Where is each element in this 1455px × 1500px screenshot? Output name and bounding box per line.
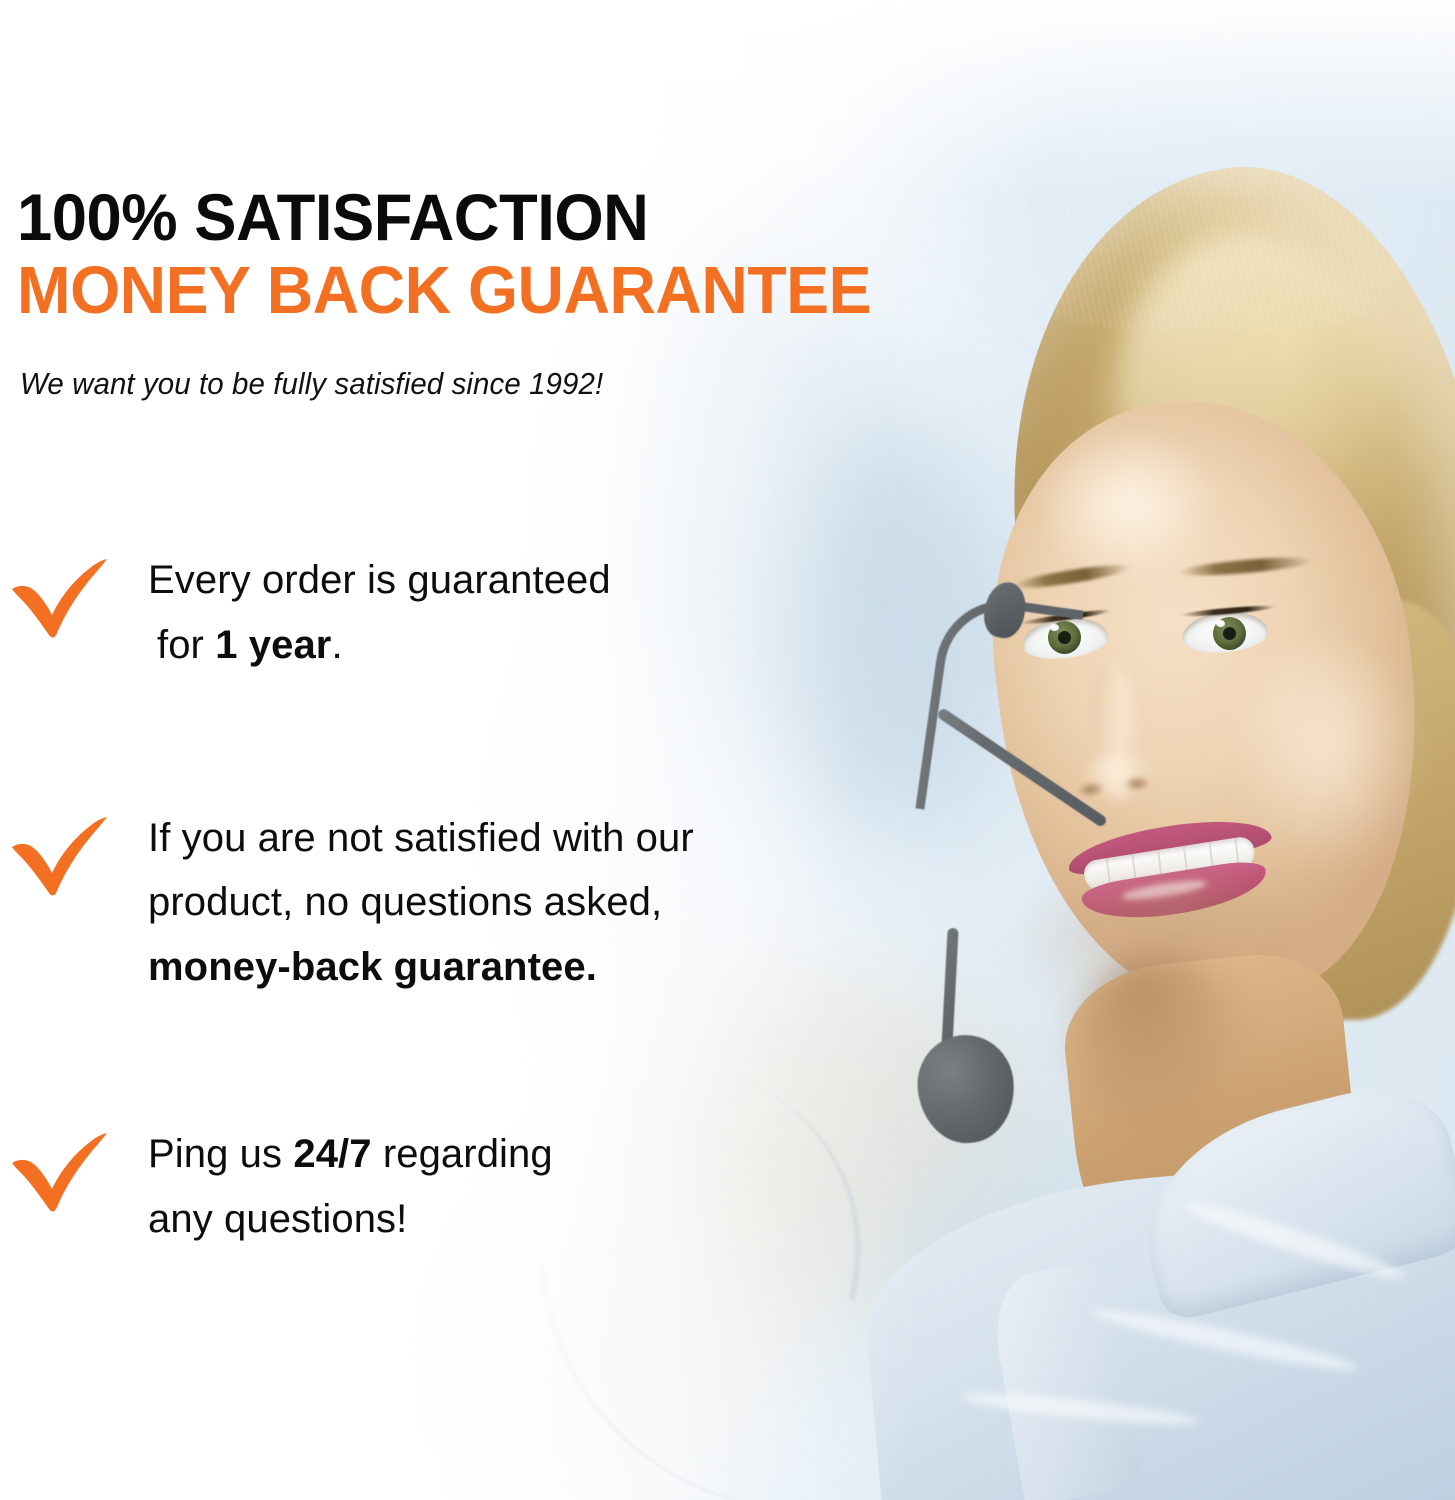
line-emphasis: money-back guarantee. [148,945,597,989]
list-item-line: Ping us 24/7 regarding [148,1122,900,1187]
list-item-text: Every order is guaranteed for 1 year. [0,548,900,678]
line-emphasis: 1 year [215,623,331,667]
list-item: Ping us 24/7 regarding any questions! [0,1122,900,1252]
line-suffix: regarding [372,1132,553,1176]
check-icon [10,556,110,640]
list-item-line: If you are not satisfied with our [148,806,900,871]
list-item-line: Every order is guaranteed [148,548,900,613]
list-item-line: money-back guarantee. [148,935,900,1000]
line-emphasis: 24/7 [293,1132,371,1176]
headline-money-back-guarantee: MONEY BACK GUARANTEE [17,260,987,323]
list-item-line: product, no questions asked, [148,870,900,935]
check-icon [10,814,110,898]
headline-satisfaction: 100% SATISFACTION [17,186,987,248]
promo-banner: 100% SATISFACTION MONEY BACK GUARANTEE W… [0,0,1455,1500]
list-item-line: for 1 year. [148,613,900,678]
line-prefix: Ping us [148,1132,293,1176]
headline-block: 100% SATISFACTION MONEY BACK GUARANTEE [17,186,1027,323]
list-item: Every order is guaranteed for 1 year. [0,548,900,678]
list-item-text: If you are not satisfied with our produc… [0,806,900,1000]
list-item-text: Ping us 24/7 regarding any questions! [0,1122,900,1252]
line-prefix: for [157,623,215,667]
line-suffix: . [331,623,342,667]
list-item-line: any questions! [148,1187,900,1252]
tagline: We want you to be fully satisfied since … [20,366,603,402]
check-icon [10,1130,110,1214]
guarantee-list: Every order is guaranteed for 1 year. If… [0,548,900,1252]
promo-content: 100% SATISFACTION MONEY BACK GUARANTEE W… [0,0,1455,1500]
list-item: If you are not satisfied with our produc… [0,806,900,1000]
